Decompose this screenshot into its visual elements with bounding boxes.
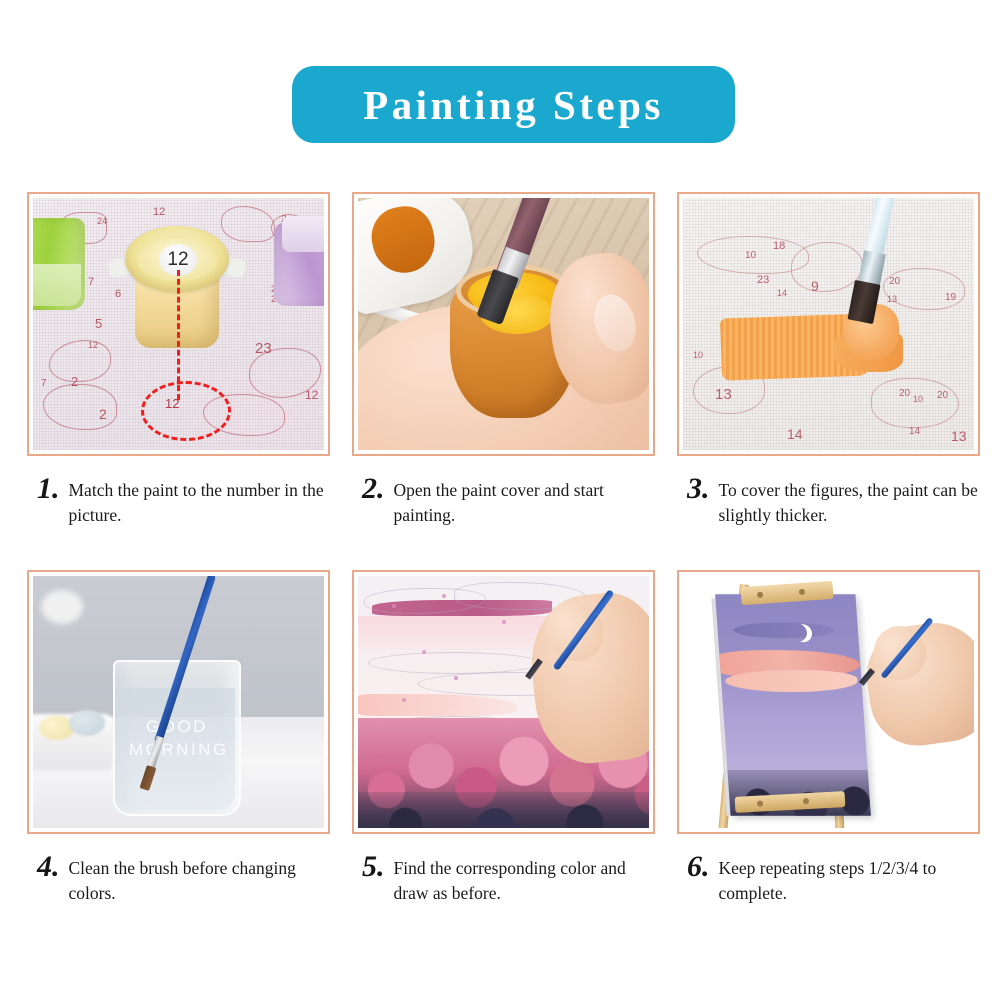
step-card-6: 6. Keep repeating steps 1/2/3/4 to compl… — [677, 570, 980, 907]
canvas-number-label: 10 — [693, 350, 703, 360]
step-5-text: Find the corresponding color and draw as… — [394, 852, 656, 907]
canvas-number-label: 5 — [95, 316, 102, 331]
painting-in-progress-photo — [358, 576, 649, 828]
canvas-dot — [392, 604, 396, 608]
step-4-photo-frame: GOOD MORNING — [27, 570, 330, 834]
canvas-number-label: 23 — [757, 274, 769, 286]
step-6-caption: 6. Keep repeating steps 1/2/3/4 to compl… — [677, 852, 980, 907]
open-paint-pot-photo — [358, 198, 649, 450]
sky-cloud-dark — [733, 622, 834, 638]
step-card-5: 5. Find the corresponding color and draw… — [352, 570, 655, 907]
step-3-number: 3. — [687, 474, 710, 504]
step-2-number: 2. — [362, 474, 385, 504]
step-card-3: 10 18 23 14 9 20 13 10 20 13 14 19 20 10… — [677, 192, 980, 529]
red-dashed-highlight-ellipse — [141, 381, 231, 441]
step-3-photo-frame: 10 18 23 14 9 20 13 10 20 13 14 19 20 10… — [677, 192, 980, 456]
canvas-dot — [502, 620, 506, 624]
canvas-number-label: 12 — [88, 340, 98, 350]
canvas-number-label: 13 — [951, 428, 967, 444]
peach-cloud-band — [358, 694, 518, 716]
background-object-blue — [69, 710, 105, 736]
canvas-number-label: 12 — [305, 388, 318, 402]
canvas-number-label: 23 — [255, 340, 272, 357]
step-6-photo-frame — [677, 570, 980, 834]
canvas-number-label: 20 — [899, 388, 910, 399]
step-card-4: GOOD MORNING 4. Clean the brush before c… — [27, 570, 330, 907]
canvas-number-label: 24 — [97, 216, 107, 226]
steps-row-1: 12 24 2 7 6 5 12 2 7 2 23 24 25 12 — [27, 192, 982, 529]
step-2-text: Open the paint cover and start painting. — [394, 474, 656, 529]
glass-label-line-1: GOOD — [146, 717, 208, 736]
step-5-number: 5. — [362, 852, 385, 882]
canvas-number-label: 13 — [715, 386, 732, 403]
step-4-text: Clean the brush before changing colors. — [69, 852, 331, 907]
canvas-number-label: 7 — [41, 378, 47, 389]
canvas-number-label: 10 — [745, 250, 756, 261]
step-6-text: Keep repeating steps 1/2/3/4 to complete… — [719, 852, 981, 907]
step-4-caption: 4. Clean the brush before changing color… — [27, 852, 330, 907]
canvas-number-label: 13 — [887, 294, 897, 304]
canvas-dot — [442, 594, 446, 598]
step-1-photo-frame: 12 24 2 7 6 5 12 2 7 2 23 24 25 12 — [27, 192, 330, 456]
canvas-number-label: 14 — [787, 426, 803, 442]
glass-label-text: GOOD MORNING — [129, 716, 225, 762]
step-2-caption: 2. Open the paint cover and start painti… — [352, 474, 655, 529]
glass-label-line-2: MORNING — [129, 740, 229, 759]
canvas-number-label: 12 — [153, 206, 165, 218]
step-card-2: 2. Open the paint cover and start painti… — [352, 192, 655, 529]
sunset-cloud-lower — [724, 670, 858, 692]
painting-steps-grid: 12 24 2 7 6 5 12 2 7 2 23 24 25 12 — [27, 192, 982, 907]
steps-row-2: GOOD MORNING 4. Clean the brush before c… — [27, 570, 982, 907]
green-paint-pot — [33, 218, 85, 310]
step-card-1: 12 24 2 7 6 5 12 2 7 2 23 24 25 12 — [27, 192, 330, 529]
step-1-number: 1. — [37, 474, 60, 504]
paint-by-number-contour — [368, 652, 540, 674]
canvas-number-label: 6 — [115, 288, 121, 300]
purple-paint-pot-cap — [282, 216, 324, 252]
step-2-photo-frame — [352, 192, 655, 456]
step-6-number: 6. — [687, 852, 710, 882]
thick-paint-on-canvas-photo: 10 18 23 14 9 20 13 10 20 13 14 19 20 10… — [683, 198, 974, 450]
step-1-text: Match the paint to the number in the pic… — [69, 474, 331, 529]
page-title-banner: Painting Steps — [292, 66, 735, 143]
step-5-photo-frame — [352, 570, 655, 834]
canvas-dot — [402, 698, 406, 702]
canvas-number-label: 20 — [889, 276, 900, 287]
paint-pot-number-match-photo: 12 24 2 7 6 5 12 2 7 2 23 24 25 12 — [33, 198, 324, 450]
canvas-number-label: 2 — [71, 374, 78, 389]
canvas-dot — [422, 650, 426, 654]
brush-in-water-glass-photo: GOOD MORNING — [33, 576, 324, 828]
finished-painting-on-easel-photo — [683, 576, 974, 828]
canvas-number-label: 2 — [99, 406, 107, 422]
step-4-number: 4. — [37, 852, 60, 882]
canvas-number-label: 19 — [945, 292, 956, 303]
page-title: Painting Steps — [363, 81, 664, 129]
canvas-number-label: 14 — [909, 426, 920, 437]
canvas-number-label: 14 — [777, 288, 787, 298]
canvas-dot — [454, 676, 458, 680]
canvas-number-label: 10 — [913, 394, 923, 404]
step-3-caption: 3. To cover the figures, the paint can b… — [677, 474, 980, 529]
finished-canvas — [715, 594, 871, 815]
step-5-caption: 5. Find the corresponding color and draw… — [352, 852, 655, 907]
canvas-number-label: 20 — [937, 390, 948, 401]
canvas-number-label: 7 — [88, 276, 94, 288]
canvas-number-label: 9 — [811, 278, 819, 294]
canvas-number-label: 18 — [773, 240, 785, 252]
step-3-text: To cover the figures, the paint can be s… — [719, 474, 981, 529]
step-1-caption: 1. Match the paint to the number in the … — [27, 474, 330, 529]
background-blur-object — [41, 590, 83, 624]
highlighted-canvas-number: 12 — [165, 396, 179, 411]
